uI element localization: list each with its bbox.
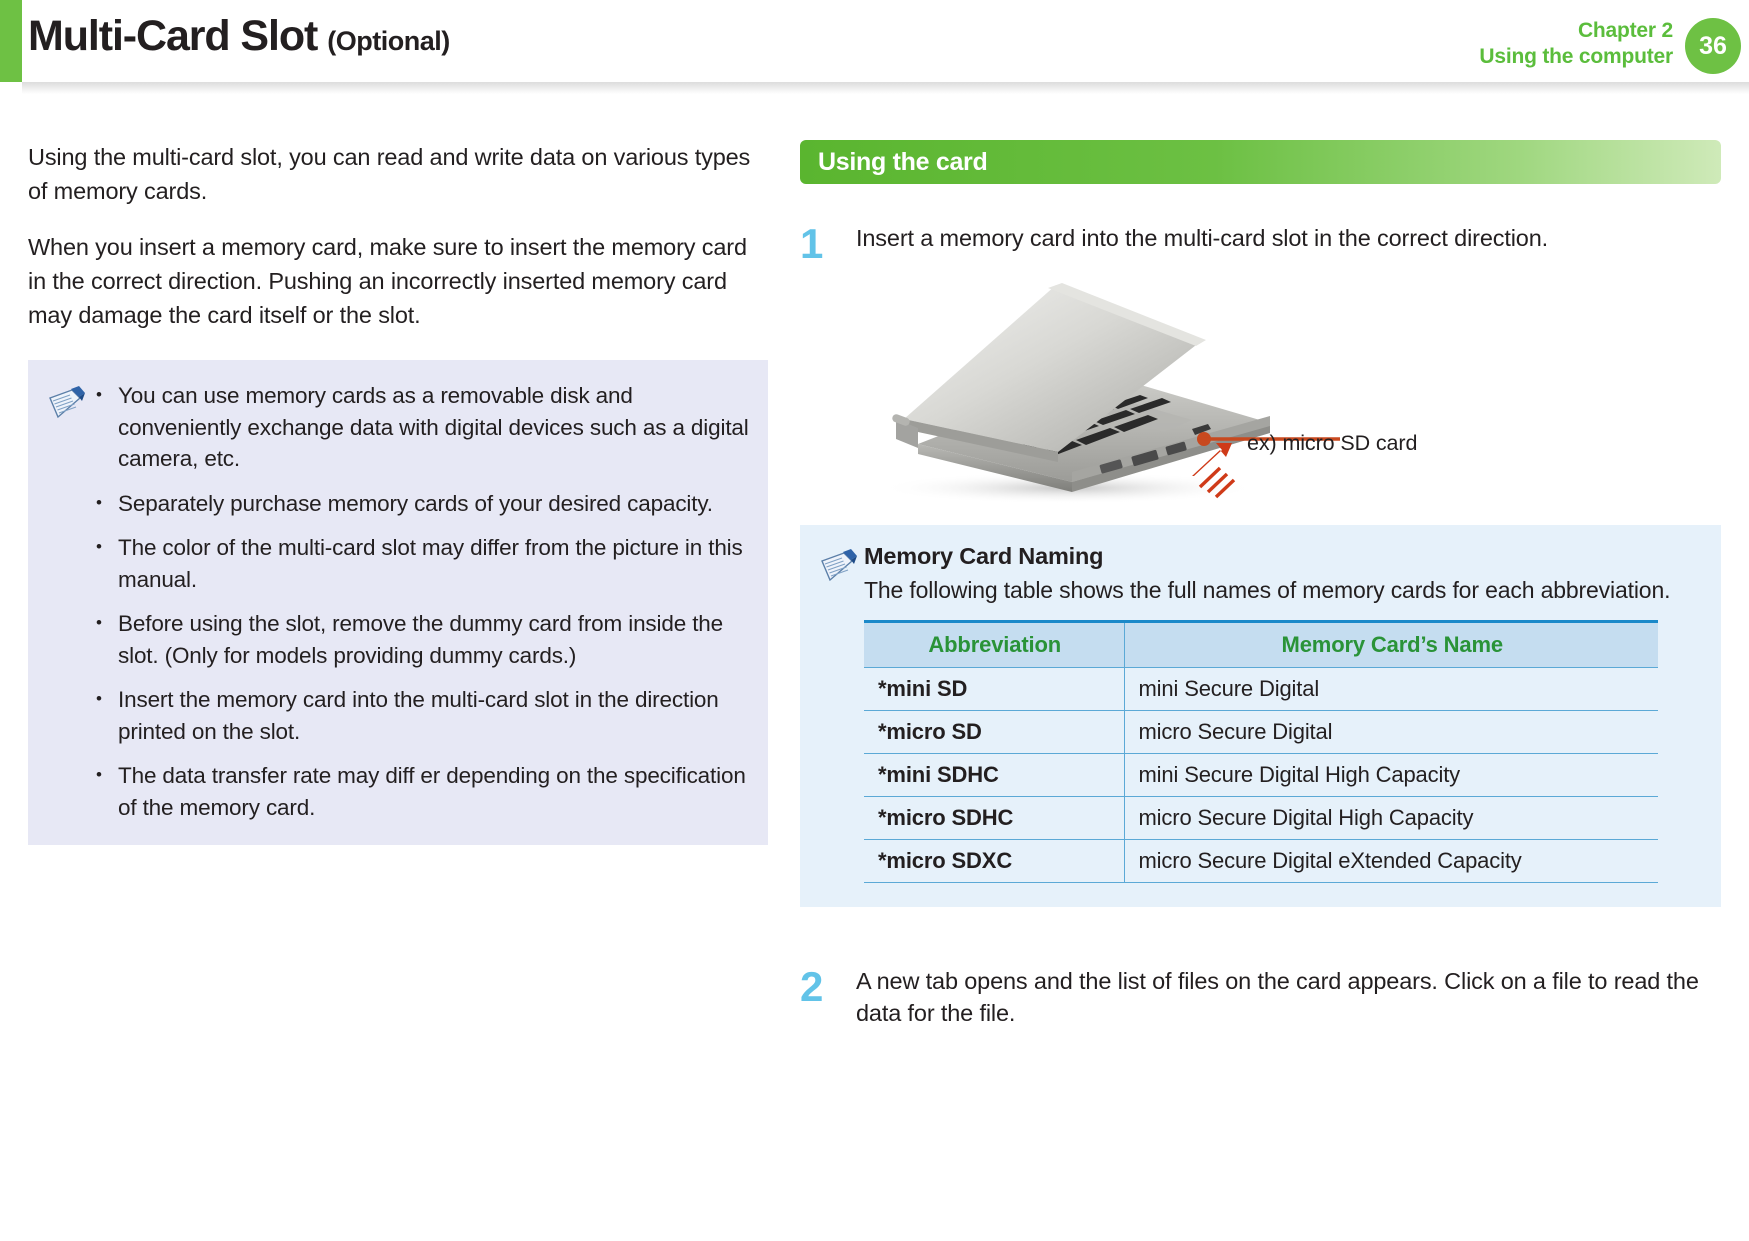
table-cell-card-name: mini Secure Digital High Capacity: [1124, 754, 1658, 797]
step-number: 2: [800, 965, 856, 1029]
list-item: The color of the multi-card slot may dif…: [92, 532, 750, 595]
figure-callout-label: ex) micro SD card: [1247, 431, 1417, 456]
table-row: *mini SDHC mini Secure Digital High Capa…: [864, 754, 1658, 797]
note-pencil-icon: [46, 380, 92, 823]
step-text: A new tab opens and the list of files on…: [856, 965, 1721, 1029]
table-header-abbreviation: Abbreviation: [864, 622, 1124, 668]
note-box-cautions: You can use memory cards as a removable …: [28, 360, 768, 845]
intro-paragraph-2: When you insert a memory card, make sure…: [28, 230, 768, 332]
table-cell-abbreviation: *micro SDHC: [864, 797, 1124, 840]
table-header-card-name: Memory Card’s Name: [1124, 622, 1658, 668]
table-cell-card-name: mini Secure Digital: [1124, 668, 1658, 711]
table-header-row: Abbreviation Memory Card’s Name: [864, 622, 1658, 668]
memory-card-naming-table: Abbreviation Memory Card’s Name *mini SD…: [864, 620, 1658, 883]
note-title: Memory Card Naming: [864, 543, 1701, 570]
table-row: *micro SDXC micro Secure Digital eXtende…: [864, 840, 1658, 883]
list-item: Separately purchase memory cards of your…: [92, 488, 750, 520]
note-body-text: The following table shows the full names…: [864, 574, 1701, 606]
table-row: *micro SDHC micro Secure Digital High Ca…: [864, 797, 1658, 840]
spacer: [800, 907, 1721, 965]
left-column: Using the multi-card slot, you can read …: [28, 140, 768, 354]
page-title-block: Multi-Card Slot (Optional): [28, 12, 450, 61]
table-cell-abbreviation: *micro SD: [864, 711, 1124, 754]
page-title: Multi-Card Slot: [28, 12, 317, 61]
header-accent-bar: [0, 0, 22, 82]
table-row: *mini SD mini Secure Digital: [864, 668, 1658, 711]
right-column: Using the card 1 Insert a memory card in…: [800, 140, 1721, 1039]
step-1: 1 Insert a memory card into the multi-ca…: [800, 222, 1721, 264]
list-item: The data transfer rate may diff er depen…: [92, 760, 750, 823]
note-box-memory-card-naming: Memory Card Naming The following table s…: [800, 525, 1721, 907]
header-divider-shadow: [22, 82, 1749, 94]
page-title-optional-tag: (Optional): [327, 26, 449, 57]
note-pencil-icon: [818, 543, 864, 883]
document-page: Multi-Card Slot (Optional) Chapter 2 Usi…: [0, 0, 1749, 1241]
caution-bullet-list: You can use memory cards as a removable …: [92, 380, 750, 823]
table-cell-card-name: micro Secure Digital eXtended Capacity: [1124, 840, 1658, 883]
laptop-figure: ex) micro SD card: [800, 276, 1721, 511]
step-2: 2 A new tab opens and the list of files …: [800, 965, 1721, 1029]
table-cell-card-name: micro Secure Digital: [1124, 711, 1658, 754]
list-item: Insert the memory card into the multi-ca…: [92, 684, 750, 747]
chapter-number: Chapter 2: [1479, 18, 1673, 44]
laptop-illustration: [800, 276, 1721, 511]
chapter-label: Chapter 2 Using the computer: [1479, 18, 1673, 70]
page-header: Multi-Card Slot (Optional) Chapter 2 Usi…: [0, 0, 1749, 92]
step-text: Insert a memory card into the multi-card…: [856, 222, 1721, 264]
list-item: You can use memory cards as a removable …: [92, 380, 750, 475]
section-heading-title: Using the card: [818, 148, 987, 177]
table-cell-abbreviation: *mini SD: [864, 668, 1124, 711]
table-cell-abbreviation: *micro SDXC: [864, 840, 1124, 883]
table-cell-abbreviation: *mini SDHC: [864, 754, 1124, 797]
step-number: 1: [800, 222, 856, 264]
table-cell-card-name: micro Secure Digital High Capacity: [1124, 797, 1658, 840]
page-number-badge: 36: [1685, 18, 1741, 74]
chapter-subtitle: Using the computer: [1479, 44, 1673, 70]
intro-paragraph-1: Using the multi-card slot, you can read …: [28, 140, 768, 208]
section-heading-bar: Using the card: [800, 140, 1721, 184]
list-item: Before using the slot, remove the dummy …: [92, 608, 750, 671]
table-row: *micro SD micro Secure Digital: [864, 711, 1658, 754]
